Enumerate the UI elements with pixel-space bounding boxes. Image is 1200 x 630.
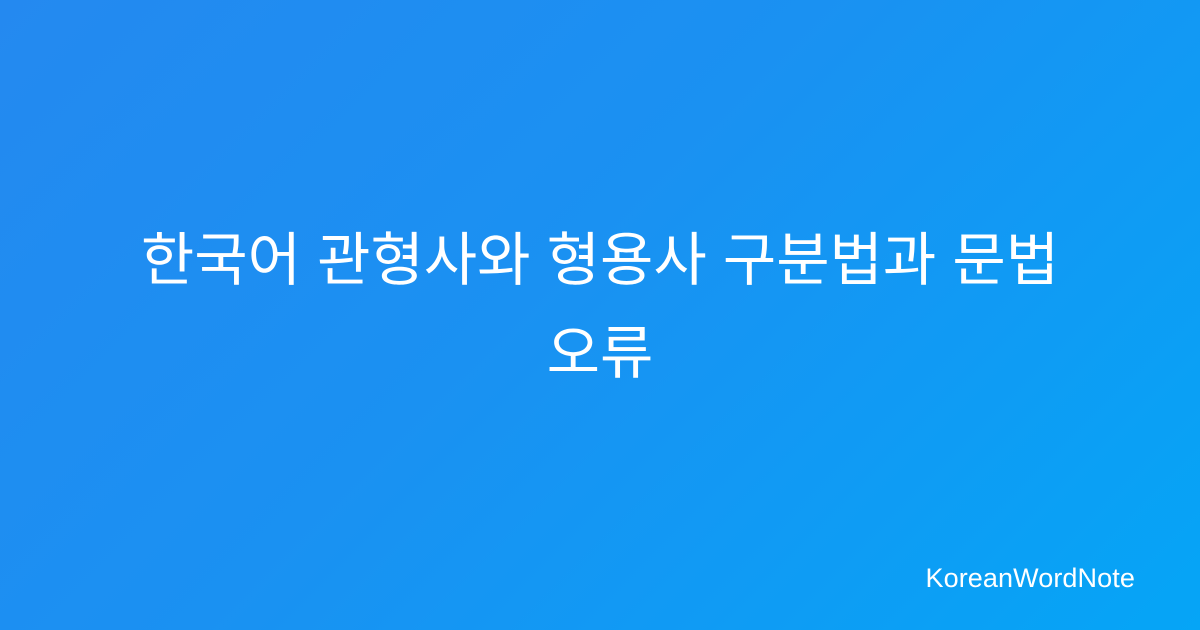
social-card: 한국어 관형사와 형용사 구분법과 문법 오류 KoreanWordNote (0, 0, 1200, 630)
site-brand-label: KoreanWordNote (925, 565, 1135, 592)
title-container: 한국어 관형사와 형용사 구분법과 문법 오류 (0, 0, 1200, 630)
page-title: 한국어 관형사와 형용사 구분법과 문법 오류 (86, 214, 1114, 400)
